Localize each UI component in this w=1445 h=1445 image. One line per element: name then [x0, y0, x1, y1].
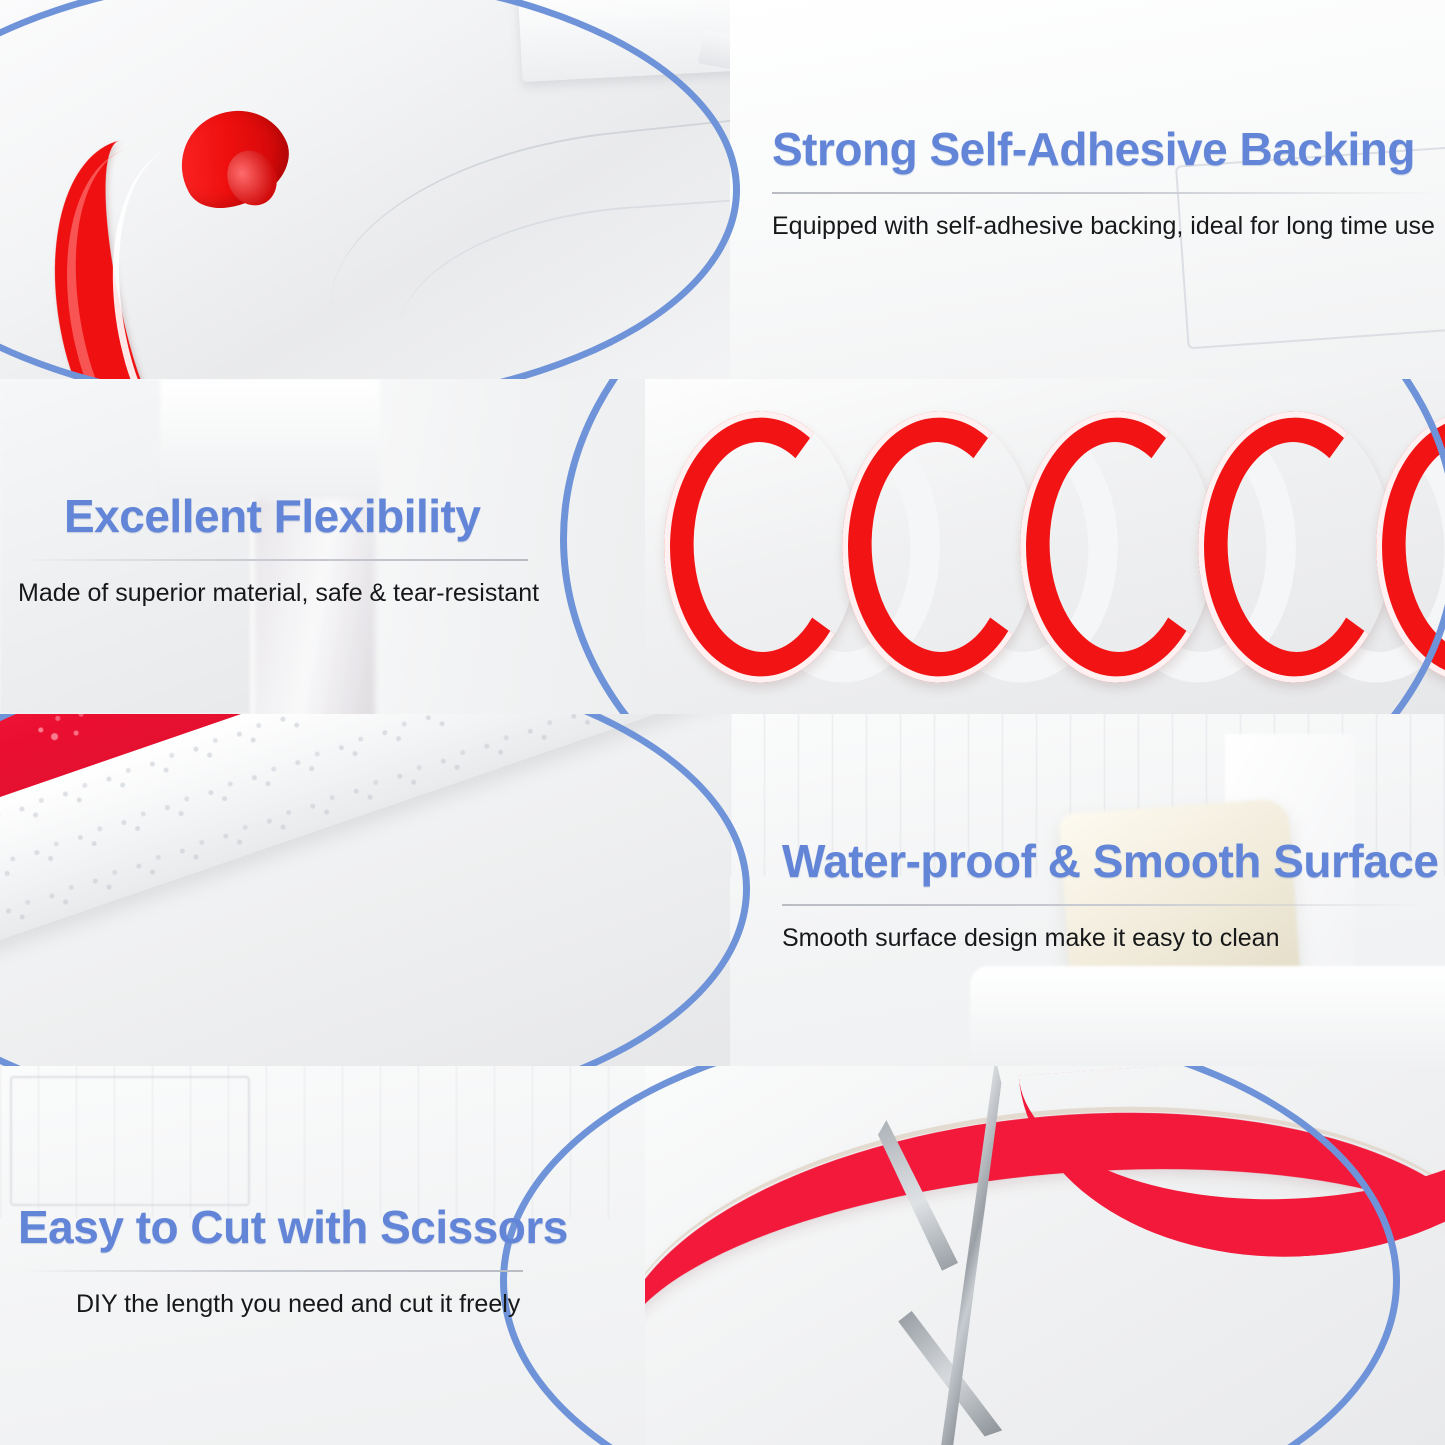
panel-1-text-block: Strong Self-Adhesive Backing Equipped wi…: [772, 120, 1437, 242]
panel-4-subtitle: DIY the length you need and cut it freel…: [18, 1288, 638, 1320]
blurred-ceiling-shape: [160, 379, 380, 499]
panel-2-photo: [645, 379, 1445, 714]
feature-panel-strong-self-adhesive-backing: Strong Self-Adhesive Backing Equipped wi…: [0, 0, 1445, 379]
feature-panel-excellent-flexibility: Excellent Flexibility Made of superior m…: [0, 379, 1445, 714]
blurred-cabinet-shape: [10, 1076, 250, 1206]
panel-2-subtitle: Made of superior material, safe & tear-r…: [18, 577, 638, 609]
panel-3-subtitle: Smooth surface design make it easy to cl…: [782, 922, 1442, 954]
product-feature-infographic: Strong Self-Adhesive Backing Equipped wi…: [0, 0, 1445, 1445]
panel-3-photo: [0, 714, 760, 1066]
panel-3-divider-rule: [782, 904, 1422, 906]
panel-3-heading: Water-proof & Smooth Surface: [782, 832, 1442, 890]
panel-4-divider-rule: [18, 1270, 523, 1272]
panel-1-divider-rule: [772, 192, 1437, 194]
panel-2-divider-rule: [18, 559, 528, 561]
feature-panel-easy-to-cut-with-scissors: Easy to Cut with Scissors DIY the length…: [0, 1066, 1445, 1445]
blurred-bathtub-shape: [970, 966, 1445, 1066]
panel-3-text-block: Water-proof & Smooth Surface Smooth surf…: [782, 832, 1442, 954]
feature-panel-water-proof-smooth-surface: Water-proof & Smooth Surface Smooth surf…: [0, 714, 1445, 1066]
panel-1-subtitle: Equipped with self-adhesive backing, ide…: [772, 210, 1437, 242]
panel-4-heading: Easy to Cut with Scissors: [18, 1198, 638, 1256]
panel-2-text-block: Excellent Flexibility Made of superior m…: [18, 487, 638, 609]
panel-1-photo: [0, 0, 760, 379]
panel-2-heading: Excellent Flexibility: [18, 487, 638, 545]
panel-4-text-block: Easy to Cut with Scissors DIY the length…: [18, 1198, 638, 1320]
panel-1-heading: Strong Self-Adhesive Backing: [772, 120, 1437, 178]
spiral-tape-group: [645, 379, 1445, 714]
panel-4-photo: [645, 1066, 1445, 1445]
